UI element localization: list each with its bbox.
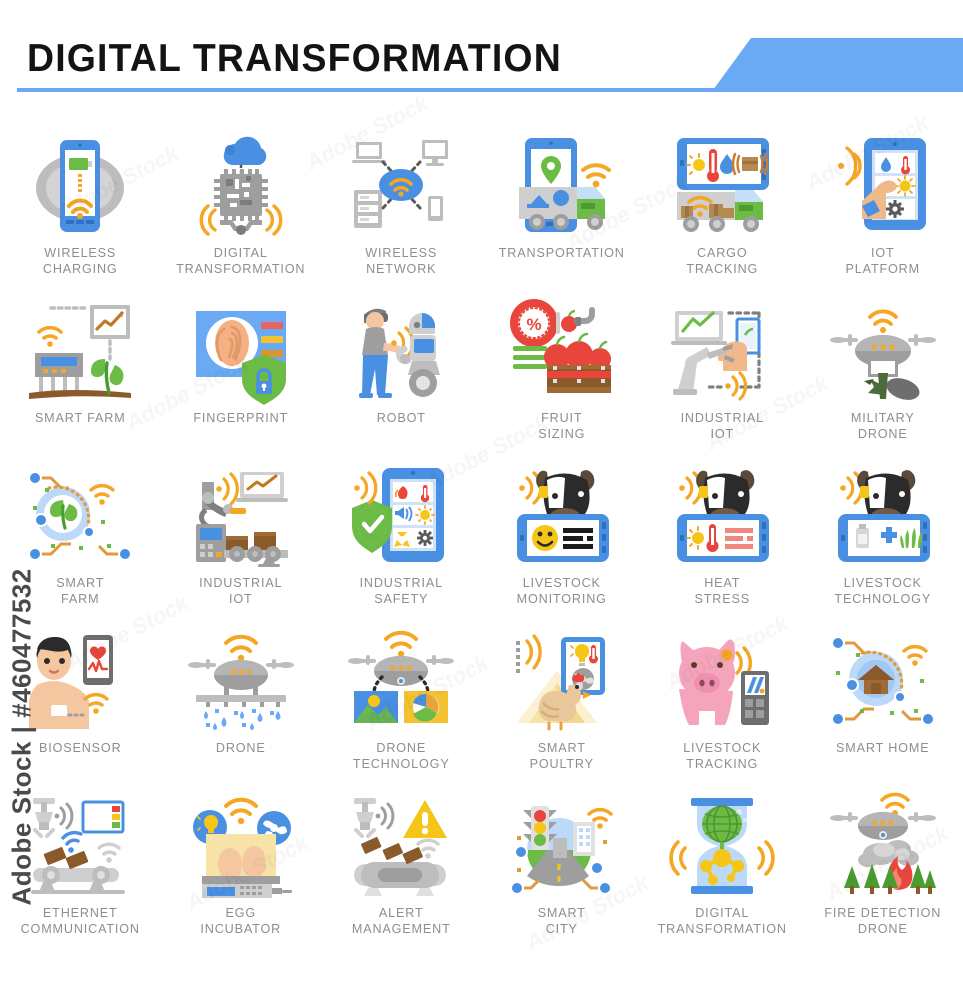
smart-farm-network-icon (21, 462, 139, 572)
biosensor-icon (21, 627, 139, 737)
icon-card-livestock-technology[interactable]: LIVESTOCK TECHNOLOGY (803, 462, 963, 627)
icon-label: LIVESTOCK TRACKING (683, 741, 761, 772)
fruit-sizing-icon: % (503, 297, 621, 407)
industrial-iot-arm-icon (663, 297, 781, 407)
livestock-tracking-icon (663, 627, 781, 737)
icon-card-digital-transformation-chip[interactable]: DIGITAL TRANSFORMATION (161, 132, 322, 297)
icon-label: SMART POULTRY (530, 741, 594, 772)
icon-card-biosensor[interactable]: BIOSENSOR (0, 627, 161, 792)
icon-label: IOT PLATFORM (846, 246, 920, 277)
fire-detection-drone-icon (824, 792, 942, 902)
industrial-safety-icon (342, 462, 460, 572)
icon-card-heat-stress[interactable]: HEAT STRESS (642, 462, 803, 627)
icon-card-fruit-sizing[interactable]: % FRUIT SIZING (482, 297, 643, 462)
icon-card-fire-detection-drone[interactable]: FIRE DETECTION DRONE (803, 792, 963, 957)
icon-card-smart-city[interactable]: SMART CITY (482, 792, 643, 957)
egg-incubator-icon (182, 792, 300, 902)
icon-label: DRONE TECHNOLOGY (353, 741, 450, 772)
icon-card-military-drone[interactable]: MILITARY DRONE (803, 297, 963, 462)
smart-poultry-icon (503, 627, 621, 737)
wireless-charging-icon (21, 132, 139, 242)
svg-text:%: % (526, 315, 541, 334)
icon-label: SMART HOME (836, 741, 929, 757)
icon-label: HEAT STRESS (695, 576, 751, 607)
icon-card-ethernet-communication[interactable]: ETHERNET COMMUNICATION (0, 792, 161, 957)
icon-card-smart-farm-station[interactable]: SMART FARM (0, 297, 161, 462)
smart-farm-station-icon (21, 297, 139, 407)
icon-label: WIRELESS NETWORK (365, 246, 437, 277)
icon-label: ETHERNET COMMUNICATION (21, 906, 140, 937)
icon-card-industrial-iot-conveyor[interactable]: INDUSTRIAL IOT (161, 462, 322, 627)
drone-technology-icon (342, 627, 460, 737)
header-accent-banner (713, 38, 963, 90)
icon-label: DIGITAL TRANSFORMATION (658, 906, 787, 937)
livestock-technology-icon (824, 462, 942, 572)
icon-label: SMART FARM (35, 411, 126, 427)
smart-city-icon (503, 792, 621, 902)
icon-card-smart-farm-network[interactable]: SMART FARM (0, 462, 161, 627)
icon-label: ALERT MANAGEMENT (352, 906, 451, 937)
drone-icon (182, 627, 300, 737)
smart-home-icon (824, 627, 942, 737)
icon-card-wireless-charging[interactable]: WIRELESS CHARGING (0, 132, 161, 297)
iot-platform-icon (824, 132, 942, 242)
icon-card-smart-poultry[interactable]: SMART POULTRY (482, 627, 643, 792)
icon-label: DIGITAL TRANSFORMATION (176, 246, 305, 277)
hourglass-network-icon (663, 792, 781, 902)
icon-card-cargo-tracking[interactable]: CARGO TRACKING (642, 132, 803, 297)
icon-label: FIRE DETECTION DRONE (824, 906, 941, 937)
fingerprint-icon (182, 297, 300, 407)
wireless-network-icon (342, 132, 460, 242)
icon-label: DRONE (216, 741, 266, 757)
icon-card-smart-home[interactable]: SMART HOME (803, 627, 963, 792)
icon-card-industrial-iot-arm[interactable]: INDUSTRIAL IOT (642, 297, 803, 462)
icon-card-robot[interactable]: ROBOT (321, 297, 482, 462)
icon-label: FRUIT SIZING (538, 411, 585, 442)
icon-label: TRANSPORTATION (499, 246, 625, 262)
icon-card-transportation[interactable]: TRANSPORTATION (482, 132, 643, 297)
icon-card-alert-management[interactable]: ALERT MANAGEMENT (321, 792, 482, 957)
icon-card-wireless-network[interactable]: WIRELESS NETWORK (321, 132, 482, 297)
industrial-iot-conveyor-icon (182, 462, 300, 572)
icon-grid: WIRELESS CHARGING (0, 118, 963, 957)
icon-card-livestock-monitoring[interactable]: LIVESTOCK MONITORING (482, 462, 643, 627)
robot-icon (342, 297, 460, 407)
icon-card-industrial-safety[interactable]: INDUSTRIAL SAFETY (321, 462, 482, 627)
icon-label: EGG INCUBATOR (200, 906, 281, 937)
livestock-monitoring-icon (503, 462, 621, 572)
icon-label: CARGO TRACKING (686, 246, 758, 277)
icon-card-fingerprint[interactable]: FINGERPRINT (161, 297, 322, 462)
icon-label: INDUSTRIAL IOT (199, 576, 282, 607)
icon-card-digital-transformation-hourglass[interactable]: DIGITAL TRANSFORMATION (642, 792, 803, 957)
alert-management-icon (342, 792, 460, 902)
icon-card-egg-incubator[interactable]: EGG INCUBATOR (161, 792, 322, 957)
icon-card-drone[interactable]: DRONE (161, 627, 322, 792)
header-divider-rule (17, 88, 963, 92)
icon-label: ROBOT (377, 411, 426, 427)
icon-label: SMART FARM (56, 576, 104, 607)
page-title: DIGITAL TRANSFORMATION (27, 37, 562, 81)
chip-cloud-icon (182, 132, 300, 242)
transportation-icon (503, 132, 621, 242)
cargo-tracking-icon (663, 132, 781, 242)
icon-label: LIVESTOCK TECHNOLOGY (834, 576, 931, 607)
icon-label: INDUSTRIAL IOT (681, 411, 764, 442)
icon-label: INDUSTRIAL SAFETY (360, 576, 443, 607)
icon-label: BIOSENSOR (39, 741, 122, 757)
icon-label: MILITARY DRONE (851, 411, 915, 442)
military-drone-icon (824, 297, 942, 407)
heat-stress-icon (663, 462, 781, 572)
icon-card-iot-platform[interactable]: IOT PLATFORM (803, 132, 963, 297)
icon-label: WIRELESS CHARGING (43, 246, 118, 277)
icon-label: FINGERPRINT (193, 411, 288, 427)
icon-label: SMART CITY (538, 906, 586, 937)
page-header: DIGITAL TRANSFORMATION (0, 0, 963, 118)
icon-card-livestock-tracking[interactable]: LIVESTOCK TRACKING (642, 627, 803, 792)
icon-card-drone-technology[interactable]: DRONE TECHNOLOGY (321, 627, 482, 792)
ethernet-communication-icon (21, 792, 139, 902)
icon-label: LIVESTOCK MONITORING (517, 576, 607, 607)
